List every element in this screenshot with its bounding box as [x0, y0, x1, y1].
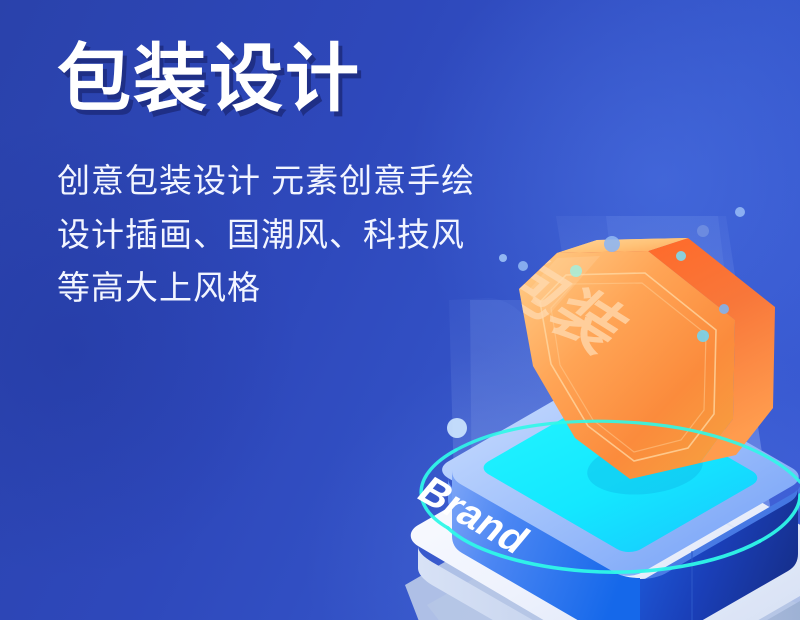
subtitle-line-2: 设计插画、国潮风、科技风 [57, 208, 475, 261]
particle-dot [697, 330, 709, 342]
hero-text-block: 包装设计 创意包装设计 元素创意手绘 设计插画、国潮风、科技风 等高大上风格 [57, 40, 475, 315]
subtitle-line-1: 创意包装设计 元素创意手绘 [57, 154, 475, 207]
subtitle-line-3: 等高大上风格 [57, 261, 475, 314]
particle-dot [676, 251, 686, 261]
page-title: 包装设计 [57, 40, 475, 118]
banner-root: 包装 Brand 包装设计 创意包装设计 元素创意手绘 设计插画、国潮风、科技风… [0, 0, 800, 620]
particle-dot [570, 265, 582, 277]
particle-dot [735, 207, 745, 217]
particle-dot [447, 418, 467, 438]
particle-dot [719, 304, 729, 314]
particle-dot [604, 236, 620, 252]
particle-dot [518, 261, 528, 271]
subtitle-block: 创意包装设计 元素创意手绘 设计插画、国潮风、科技风 等高大上风格 [57, 154, 475, 314]
particle-dot [499, 254, 507, 262]
particle-dot [697, 225, 709, 237]
